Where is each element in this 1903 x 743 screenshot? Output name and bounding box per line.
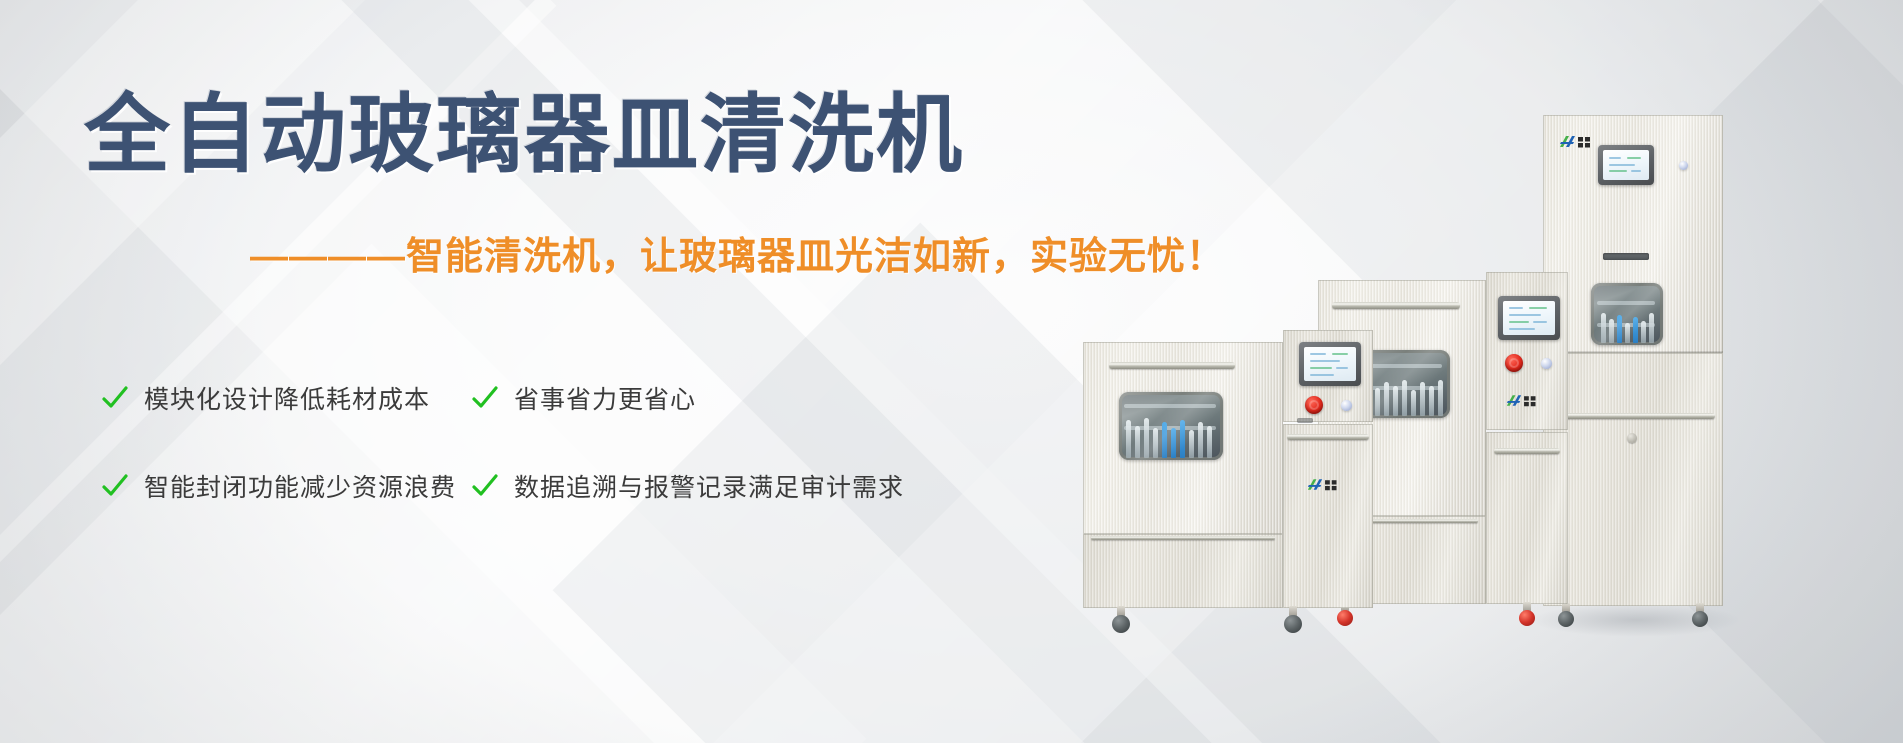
- vent-slot: [1297, 418, 1313, 423]
- base-plinth: [1083, 534, 1283, 608]
- check-icon: [470, 383, 500, 413]
- feature-item: 省事省力更省心: [470, 380, 696, 416]
- lower-door-handle[interactable]: [1494, 448, 1560, 454]
- power-button[interactable]: [1541, 358, 1552, 369]
- product-images: [1083, 0, 1903, 743]
- emergency-stop-button[interactable]: [1305, 396, 1323, 414]
- feature-list: 模块化设计降低耗材成本 省事省力更省心: [100, 380, 1000, 556]
- feature-label: 模块化设计降低耗材成本: [144, 380, 430, 416]
- plinth-handle[interactable]: [1091, 536, 1275, 540]
- control-panel[interactable]: [1299, 342, 1361, 386]
- chamber-window: [1591, 283, 1663, 345]
- caster-wheel: [1283, 606, 1303, 634]
- caster-wheel: [1518, 602, 1536, 628]
- check-icon: [100, 471, 130, 501]
- feature-row: 模块化设计降低耗材成本 省事省力更省心: [100, 380, 1000, 416]
- promo-banner: 全自动玻璃器皿清洗机 ————智能清洗机，让玻璃器皿光洁如新，实验无忧！ 模块化…: [0, 0, 1903, 743]
- door-handle[interactable]: [1332, 302, 1460, 309]
- feature-label: 数据追溯与报警记录满足审计需求: [514, 468, 904, 504]
- feature-label: 省事省力更省心: [514, 380, 696, 416]
- lower-door-handle[interactable]: [1287, 434, 1369, 440]
- control-panel[interactable]: [1498, 296, 1560, 340]
- body-seam: [1543, 351, 1723, 353]
- power-button[interactable]: [1679, 161, 1688, 170]
- check-icon: [470, 471, 500, 501]
- door-lock[interactable]: [1627, 433, 1637, 443]
- brand-logo: [1305, 476, 1347, 494]
- check-icon: [100, 383, 130, 413]
- door-handle[interactable]: [1109, 362, 1235, 369]
- caster-wheel: [1691, 603, 1709, 629]
- power-button[interactable]: [1341, 400, 1352, 411]
- feature-row: 智能封闭功能减少资源浪费 数据追溯与报警记录满足审计需求: [100, 468, 1000, 504]
- feature-item: 智能封闭功能减少资源浪费: [100, 468, 470, 504]
- cabinet-lower-body: [1543, 353, 1723, 606]
- brand-logo: [1557, 133, 1601, 151]
- banner-copy: 全自动玻璃器皿清洗机 ————智能清洗机，让玻璃器皿光洁如新，实验无忧！ 模块化…: [0, 0, 1100, 743]
- vent-slot: [1603, 253, 1649, 260]
- feature-label: 智能封闭功能减少资源浪费: [144, 468, 456, 504]
- product-tall-cabinet-glassware-washer: [1543, 115, 1723, 625]
- touchscreen-display[interactable]: [1304, 347, 1356, 381]
- door-handle[interactable]: [1551, 413, 1715, 419]
- control-column-lower: [1486, 432, 1568, 604]
- product-undercounter-glassware-washer: [1083, 330, 1373, 620]
- page-title: 全自动玻璃器皿清洗机: [84, 92, 964, 178]
- page-subtitle: ————智能清洗机，让玻璃器皿光洁如新，实验无忧！: [250, 238, 1225, 276]
- feature-item: 数据追溯与报警记录满足审计需求: [470, 468, 904, 504]
- touchscreen-display[interactable]: [1603, 150, 1649, 180]
- caster-wheel: [1111, 606, 1131, 634]
- touchscreen-display[interactable]: [1503, 301, 1555, 335]
- chamber-window: [1119, 392, 1223, 460]
- emergency-stop-button[interactable]: [1505, 354, 1523, 372]
- control-column-lower: [1283, 424, 1373, 608]
- brand-logo: [1504, 392, 1546, 410]
- feature-item: 模块化设计降低耗材成本: [100, 380, 470, 416]
- control-panel[interactable]: [1598, 145, 1654, 185]
